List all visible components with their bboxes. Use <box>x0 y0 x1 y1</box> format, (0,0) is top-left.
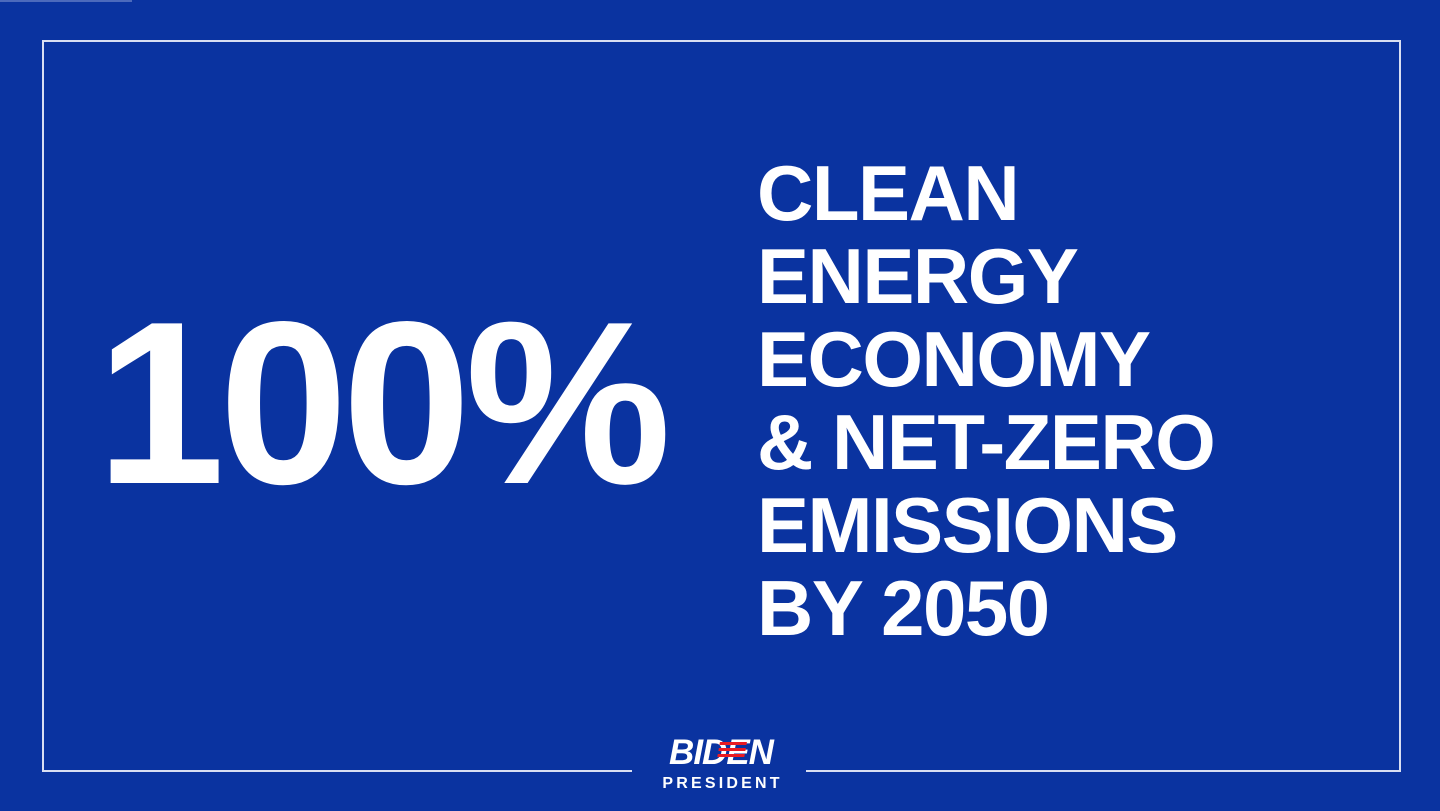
headline-line-2: ENERGY <box>757 235 1214 318</box>
biden-campaign-logo: BIDEN PRESIDENT <box>648 736 794 798</box>
logo-wordmark: BIDEN <box>648 736 794 770</box>
flag-stripe-2 <box>718 748 746 751</box>
flag-stripes-icon <box>716 742 747 764</box>
frame-border-bottom-right <box>806 770 1401 772</box>
flag-stripe-1 <box>719 742 747 745</box>
headline-line-3: ECONOMY <box>757 318 1214 401</box>
headline-line-1: CLEAN <box>757 152 1214 235</box>
frame-border-right <box>1399 40 1401 772</box>
headline-line-6: BY 2050 <box>757 567 1214 650</box>
poster-canvas: 100% CLEAN ENERGY ECONOMY & NET-ZERO EMI… <box>0 0 1440 811</box>
headline-line-5: EMISSIONS <box>757 484 1214 567</box>
frame-border-left <box>42 40 44 772</box>
headline-line-4: & NET-ZERO <box>757 401 1214 484</box>
stat-percentage: 100% <box>96 288 665 520</box>
logo-tagline: PRESIDENT <box>648 775 794 793</box>
frame-border-top <box>42 40 1401 42</box>
flag-stripe-3 <box>717 754 745 757</box>
top-edge-hairline <box>0 0 132 2</box>
headline-block: CLEAN ENERGY ECONOMY & NET-ZERO EMISSION… <box>757 152 1214 650</box>
frame-border-bottom-left <box>42 770 632 772</box>
